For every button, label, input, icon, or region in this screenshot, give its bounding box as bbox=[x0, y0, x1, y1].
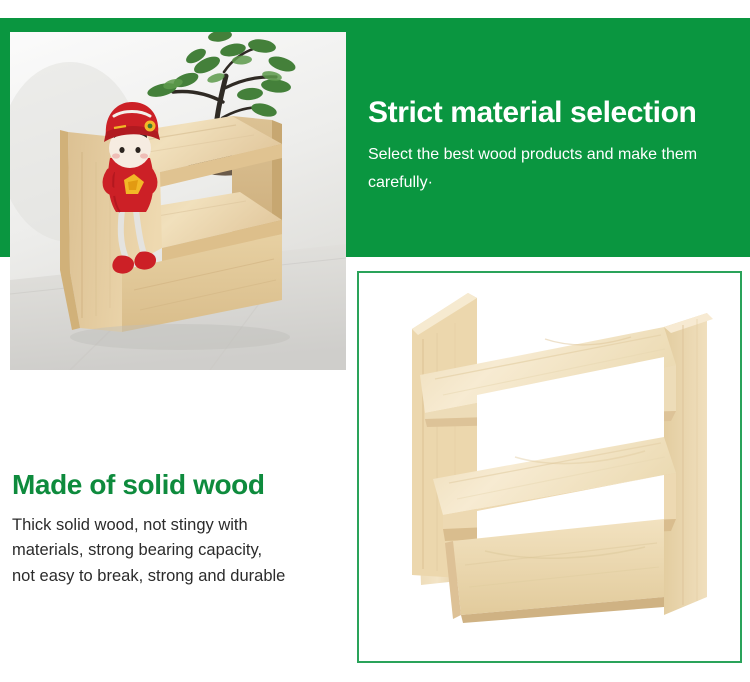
section-title-solid-wood: Made of solid wood bbox=[12, 470, 342, 501]
body-line: materials, strong bearing capacity, bbox=[12, 538, 342, 564]
body-line: not easy to break, strong and durable bbox=[12, 564, 342, 590]
banner-text-block: Strict material selection Select the bes… bbox=[368, 96, 728, 197]
banner-title: Strict material selection bbox=[368, 96, 728, 131]
lifestyle-photo-wood-shelf bbox=[10, 32, 346, 370]
section-body-solid-wood: Thick solid wood, not stingy with materi… bbox=[12, 513, 342, 590]
left-copy-block: Made of solid wood Thick solid wood, not… bbox=[12, 470, 342, 589]
product-photo-wood-shelf bbox=[365, 279, 734, 655]
body-line: Thick solid wood, not stingy with bbox=[12, 513, 342, 539]
product-photo-artwork bbox=[365, 279, 734, 655]
lifestyle-photo-artwork bbox=[10, 32, 346, 370]
banner-subtitle: Select the best wood products and make t… bbox=[368, 141, 713, 197]
product-photo-frame bbox=[357, 271, 742, 663]
